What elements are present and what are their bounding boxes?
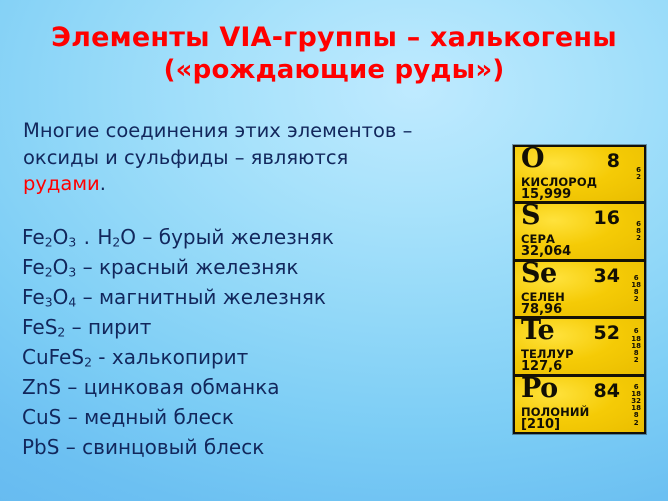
shell-electron-count: 2 xyxy=(634,420,639,427)
shell-electron-count: 2 xyxy=(636,174,641,181)
intro-line-1: Многие соединения этих элементов – xyxy=(23,118,483,145)
ore-name: цинковая обманка xyxy=(84,375,280,399)
element-shell-config: 6181882 xyxy=(631,319,641,373)
ore-list-item: CuFeS2 - халькопирит xyxy=(22,342,492,372)
element-atomic-mass: 15,999 xyxy=(521,187,571,202)
element-atomic-number: 84 xyxy=(594,380,620,402)
shell-electron-count: 2 xyxy=(634,357,639,364)
ore-separator: – xyxy=(61,405,84,429)
shell-electron-count: 2 xyxy=(636,235,641,242)
element-symbol: S xyxy=(521,204,540,230)
element-shell-config: 682 xyxy=(636,204,641,258)
element-symbol: Se xyxy=(521,262,557,288)
ore-list-item: Fe2O3 . H2O – бурый железняк xyxy=(22,222,492,252)
intro-line-3: рудами. xyxy=(23,171,483,198)
element-atomic-mass: [210] xyxy=(521,417,560,432)
element-symbol: Po xyxy=(521,377,558,403)
element-symbol: O xyxy=(521,147,544,173)
element-symbol: Te xyxy=(521,319,554,345)
periodic-table-cell: O8КИСЛОРОД15,99962 xyxy=(515,147,644,204)
element-atomic-mass: 127,6 xyxy=(521,359,562,374)
ore-separator: – xyxy=(76,255,99,279)
ore-name: бурый железняк xyxy=(159,225,334,249)
ore-formula: CuS xyxy=(22,405,61,429)
shell-electron-count: 2 xyxy=(634,296,639,303)
ore-separator: – xyxy=(65,315,88,339)
ore-list-item: CuS – медный блеск xyxy=(22,402,492,432)
element-atomic-number: 34 xyxy=(594,265,620,287)
periodic-table-cell: Te52ТЕЛЛУР127,66181882 xyxy=(515,319,644,376)
ore-separator: – xyxy=(61,375,84,399)
element-atomic-mass: 78,96 xyxy=(521,302,562,317)
periodic-table-strip: O8КИСЛОРОД15,99962S16СЕРА32,064682Se34СЕ… xyxy=(513,145,646,434)
title-line-1: Элементы VIA-группы – халькогены xyxy=(0,22,668,55)
ore-separator: - xyxy=(92,345,112,369)
periodic-table-cell: Se34СЕЛЕН78,9661882 xyxy=(515,262,644,319)
ore-formula: PbS xyxy=(22,435,59,459)
element-shell-config: 61882 xyxy=(631,262,641,316)
periodic-table-cell: S16СЕРА32,064682 xyxy=(515,204,644,261)
element-atomic-number: 52 xyxy=(594,322,620,344)
ore-separator: – xyxy=(136,225,159,249)
periodic-table-cell: Po84ПОЛОНИЙ[210]618321882 xyxy=(515,377,644,434)
element-atomic-number: 16 xyxy=(594,207,620,229)
ore-separator: – xyxy=(76,285,99,309)
ore-name: красный железняк xyxy=(99,255,298,279)
element-atomic-mass: 32,064 xyxy=(521,244,571,259)
ore-separator: – xyxy=(59,435,82,459)
slide-title: Элементы VIA-группы – халькогены («рожда… xyxy=(0,22,668,87)
ore-formula: CuFeS2 xyxy=(22,345,92,369)
element-shell-config: 618321882 xyxy=(631,377,641,434)
intro-line-2: оксиды и сульфиды – являются xyxy=(23,145,483,172)
intro-period: . xyxy=(100,172,106,195)
ore-formula: Fe3O4 xyxy=(22,285,76,309)
ore-list-item: ZnS – цинковая обманка xyxy=(22,372,492,402)
ore-name: пирит xyxy=(88,315,151,339)
ore-name: медный блеск xyxy=(84,405,234,429)
ore-formula: ZnS xyxy=(22,375,61,399)
ore-name: магнитный железняк xyxy=(99,285,326,309)
ore-formula: Fe2O3 xyxy=(22,255,76,279)
ore-formula: FeS2 xyxy=(22,315,65,339)
ore-formula: Fe2O3 . H2O xyxy=(22,225,136,249)
ore-name: халькопирит xyxy=(112,345,248,369)
ore-list-item: Fe3O4 – магнитный железняк xyxy=(22,282,492,312)
element-shell-config: 62 xyxy=(636,147,641,201)
ore-list-item: Fe2O3 – красный железняк xyxy=(22,252,492,282)
title-line-2: («рождающие руды») xyxy=(0,55,668,87)
element-atomic-number: 8 xyxy=(607,150,620,172)
ore-list-item: PbS – свинцовый блеск xyxy=(22,432,492,462)
intro-highlight-rudami: рудами xyxy=(23,172,100,195)
ore-list-item: FeS2 – пирит xyxy=(22,312,492,342)
ore-formula-list: Fe2O3 . H2O – бурый железнякFe2O3 – крас… xyxy=(22,222,492,462)
slide-canvas: Элементы VIA-группы – халькогены («рожда… xyxy=(0,0,668,501)
intro-paragraph: Многие соединения этих элементов – оксид… xyxy=(23,118,483,198)
ore-name: свинцовый блеск xyxy=(82,435,264,459)
